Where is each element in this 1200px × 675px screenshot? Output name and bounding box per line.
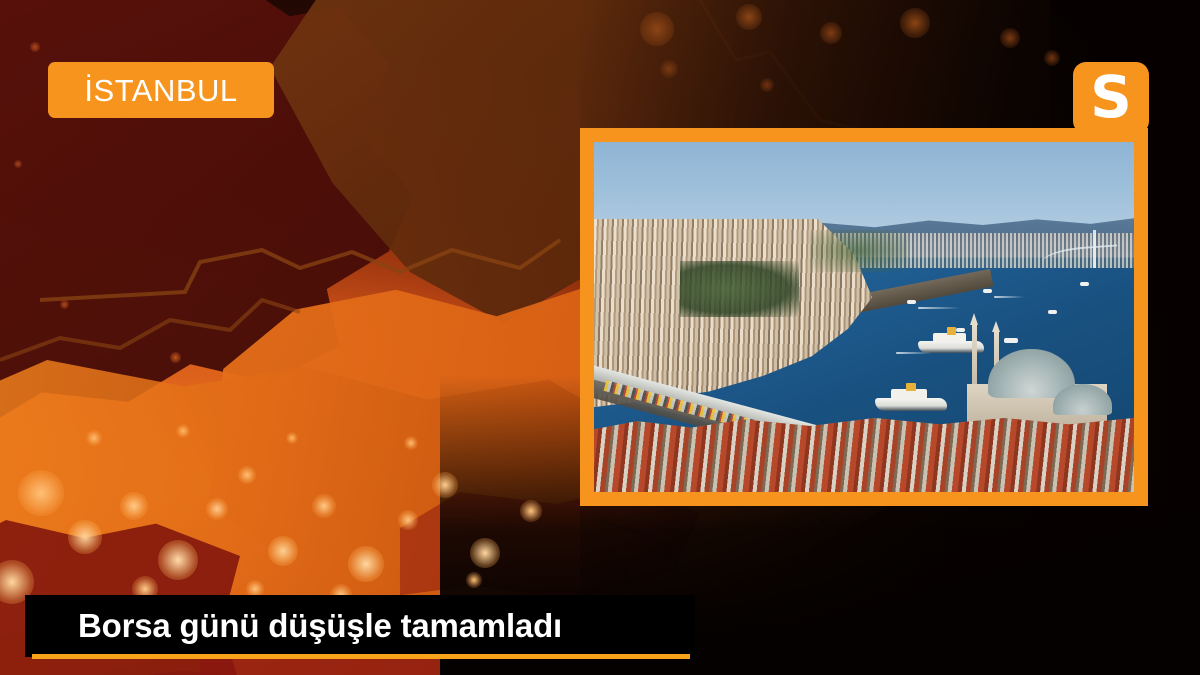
news-card: İSTANBUL (0, 0, 1200, 675)
brand-s-logo: S (1073, 62, 1149, 134)
photo-small-boat (907, 300, 916, 304)
photo-small-boat (1004, 338, 1018, 343)
photo-small-boat (1048, 310, 1057, 314)
photo-greenery-2 (810, 230, 907, 272)
photo-frame (580, 128, 1148, 506)
headline-underline (32, 654, 690, 659)
photo-boat-wake (994, 296, 1024, 298)
photo-ferry-2 (875, 387, 947, 411)
headline-bar: Borsa günü düşüşle tamamladı (25, 595, 695, 657)
location-badge-label: İSTANBUL (84, 75, 237, 106)
photo-greenery-1 (680, 261, 799, 317)
location-badge: İSTANBUL (48, 62, 274, 118)
photo-boat-wake (918, 307, 960, 309)
photo-small-boat (983, 289, 992, 293)
photo-small-boat (1080, 282, 1089, 286)
photo-boat-wake (896, 352, 932, 354)
brand-logo-glyph: S (1090, 68, 1132, 126)
headline-text: Borsa günü düşüşle tamamladı (25, 607, 562, 645)
istanbul-photo (594, 142, 1134, 492)
